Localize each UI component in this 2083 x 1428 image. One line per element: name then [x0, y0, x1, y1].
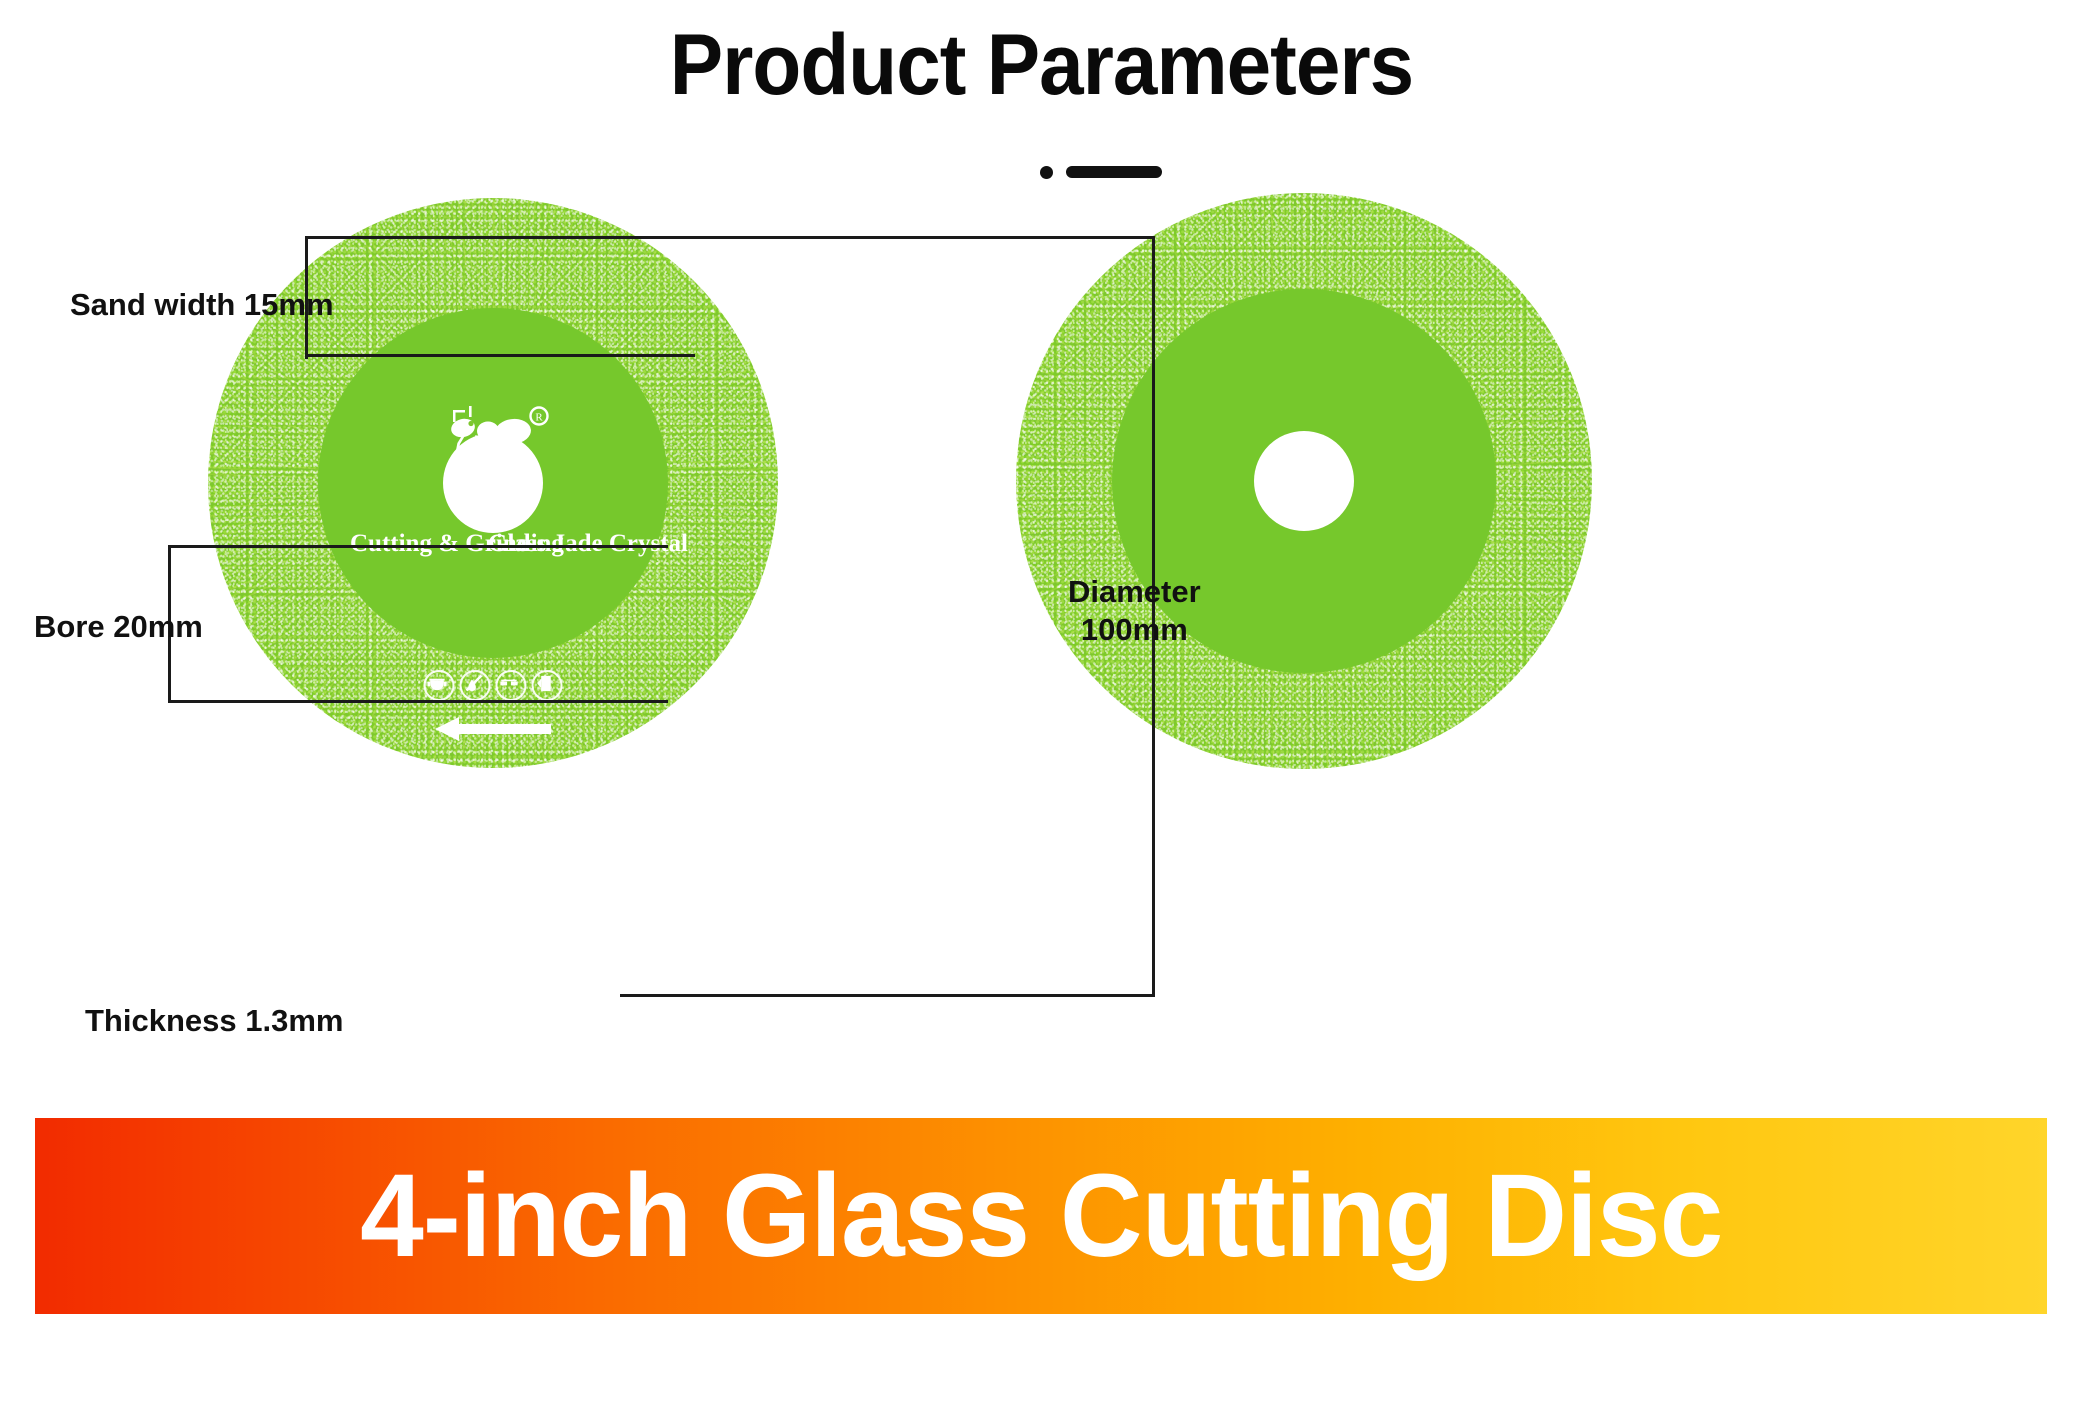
- disc-bore-hole-back: [1254, 431, 1354, 531]
- cutting-disc-front-view: R LITTLE ANT Cutting & Grinding Glass Ja…: [208, 198, 778, 768]
- leader-line-thickness: [620, 994, 1155, 997]
- cutting-disc-back-view: [1016, 193, 1592, 769]
- title-ornament: [1040, 160, 1220, 184]
- svg-text:R: R: [535, 412, 543, 424]
- page-title: Product Parameters: [73, 22, 2010, 108]
- ornament-dot-icon: [1040, 166, 1053, 179]
- label-diameter: Diameter 100mm: [1068, 573, 1201, 649]
- leader-line-diameter-top: [305, 236, 1155, 239]
- bottom-banner: 4-inch Glass Cutting Disc: [35, 1118, 2047, 1314]
- leader-line-bore-bottom: [168, 700, 668, 703]
- ornament-dash-icon: [1066, 166, 1162, 178]
- label-thickness: Thickness 1.3mm: [85, 1002, 343, 1040]
- disc-use-text: Cutting & Grinding: [350, 530, 500, 558]
- label-bore: Bore 20mm: [34, 608, 203, 646]
- label-sand-width: Sand width 15mm: [70, 286, 334, 324]
- banner-title: 4-inch Glass Cutting Disc: [360, 1157, 1722, 1275]
- leader-line-bore-top: [168, 545, 668, 548]
- disc-bore-hole: [443, 433, 543, 533]
- disc-material-text: Glass Jade Crystal: [488, 530, 648, 558]
